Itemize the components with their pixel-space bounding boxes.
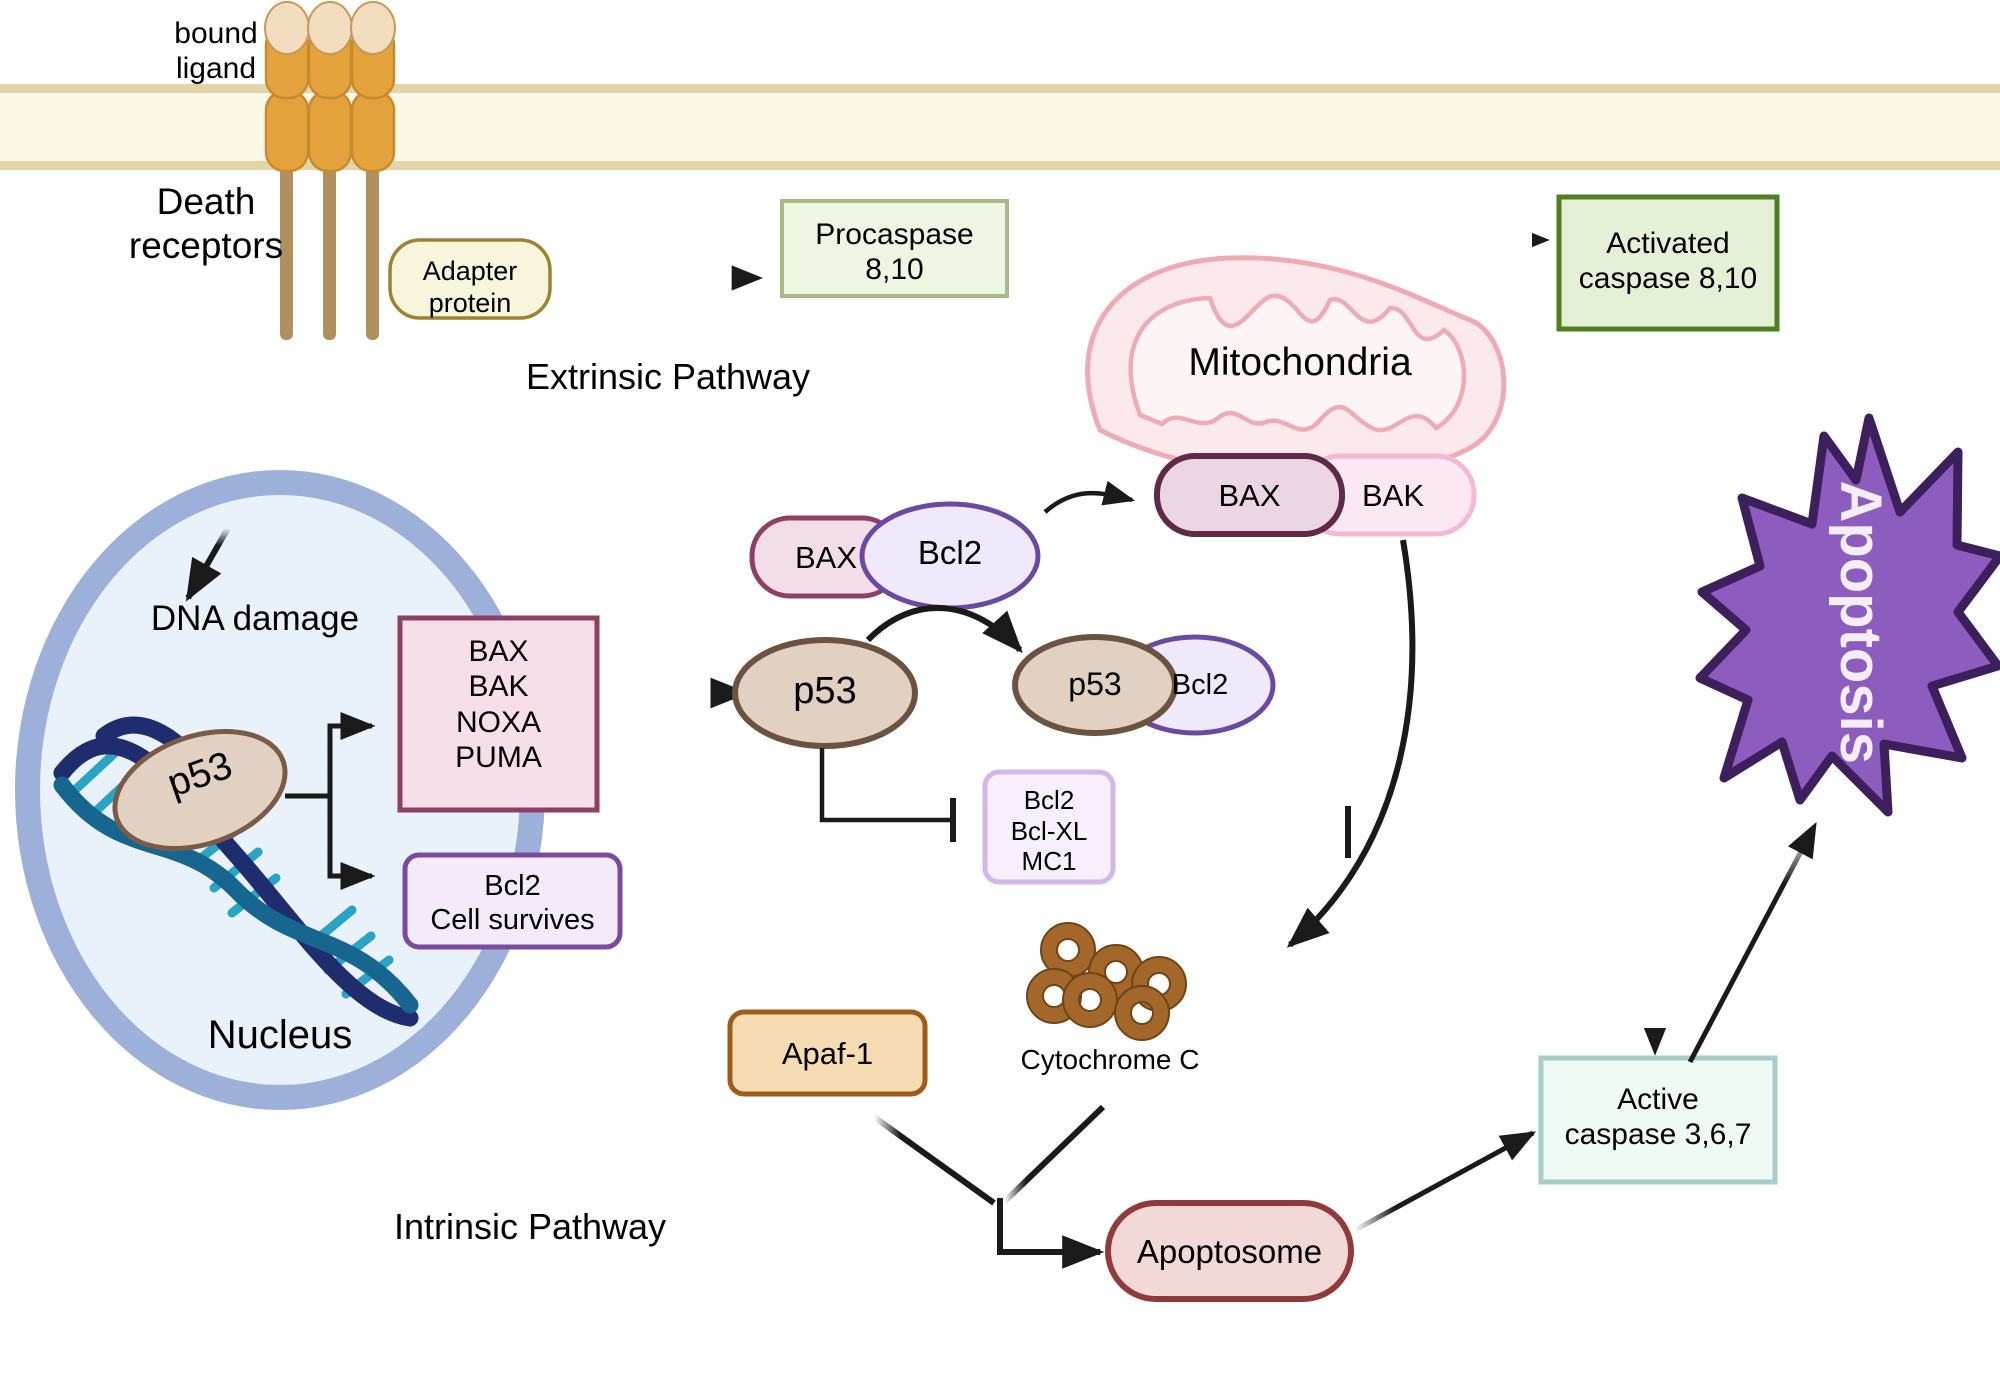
activated-caspase-label: Activated caspase 8,10 bbox=[1559, 226, 1777, 297]
bound-ligand bbox=[351, 2, 395, 54]
arrow-p53-to-p53bcl2 bbox=[868, 608, 1020, 650]
receptor-tail bbox=[323, 160, 336, 340]
arrow-mitochondria-to-cytochromec bbox=[1290, 540, 1412, 945]
bcl2-cell-survives-label: Bcl2 Cell survives bbox=[405, 869, 620, 937]
cytochrome-c-ring bbox=[1063, 973, 1117, 1027]
arrow-baxbcl2-to-mitochondria bbox=[1045, 493, 1132, 512]
bound-ligand bbox=[308, 2, 352, 54]
bcl2-bclxl-mc1-label: Bcl2 Bcl-XL MC1 bbox=[985, 785, 1113, 877]
bak-mito-label: BAK bbox=[1318, 478, 1468, 515]
bax-mito-label: BAX bbox=[1157, 478, 1342, 515]
receptor-tm-domain bbox=[309, 91, 351, 171]
death-receptor-complex bbox=[265, 2, 395, 340]
extrinsic-pathway-label: Extrinsic Pathway bbox=[498, 356, 838, 398]
receptor-tm-domain bbox=[352, 91, 394, 171]
intrinsic-pathway-label: Intrinsic Pathway bbox=[370, 1206, 690, 1248]
arrow-apaf1-cytc-to-apoptosome bbox=[874, 1107, 1103, 1252]
apoptosis-pathway-diagram: bound ligand Death receptors Adapter pro… bbox=[0, 0, 2000, 1400]
apaf1-label: Apaf-1 bbox=[730, 1036, 925, 1073]
apoptosis-label: Apoptosis bbox=[1826, 462, 1894, 782]
cytochrome-c-label: Cytochrome C bbox=[1000, 1043, 1220, 1076]
inhibition-bcl2family-to-release bbox=[1120, 806, 1348, 858]
mitochondria-label: Mitochondria bbox=[1155, 340, 1445, 386]
inhibition-p53-to-bcl2family bbox=[822, 748, 953, 842]
cytochrome-c-cluster bbox=[1027, 923, 1186, 1040]
arrow-active-caspase-to-apoptosis bbox=[1690, 825, 1815, 1062]
dna-damage-label: DNA damage bbox=[140, 598, 370, 639]
bcl2-bound-label: Bcl2 bbox=[1145, 668, 1255, 702]
receptor-tm-domain bbox=[266, 91, 308, 171]
p53-bound-label: p53 bbox=[1035, 666, 1155, 704]
bound-ligand-label: bound ligand bbox=[156, 16, 276, 87]
apoptosome-label: Apoptosome bbox=[1108, 1233, 1351, 1272]
nucleus-label: Nucleus bbox=[160, 1012, 400, 1059]
p53-cyto-label: p53 bbox=[755, 669, 895, 714]
receptor-tail bbox=[366, 160, 379, 340]
death-receptors-label: Death receptors bbox=[96, 180, 316, 267]
bcl2-free-label: Bcl2 bbox=[862, 534, 1038, 573]
procaspase-label: Procaspase 8,10 bbox=[782, 217, 1007, 288]
active-caspase-label: Active caspase 3,6,7 bbox=[1541, 1082, 1775, 1153]
cytochrome-c-ring bbox=[1115, 986, 1169, 1040]
arrow-apoptosome-to-active-caspase bbox=[1355, 1133, 1533, 1230]
adapter-protein-label: Adapter protein bbox=[390, 256, 550, 320]
bax-bak-noxa-puma-label: BAX BAK NOXA PUMA bbox=[400, 634, 597, 776]
